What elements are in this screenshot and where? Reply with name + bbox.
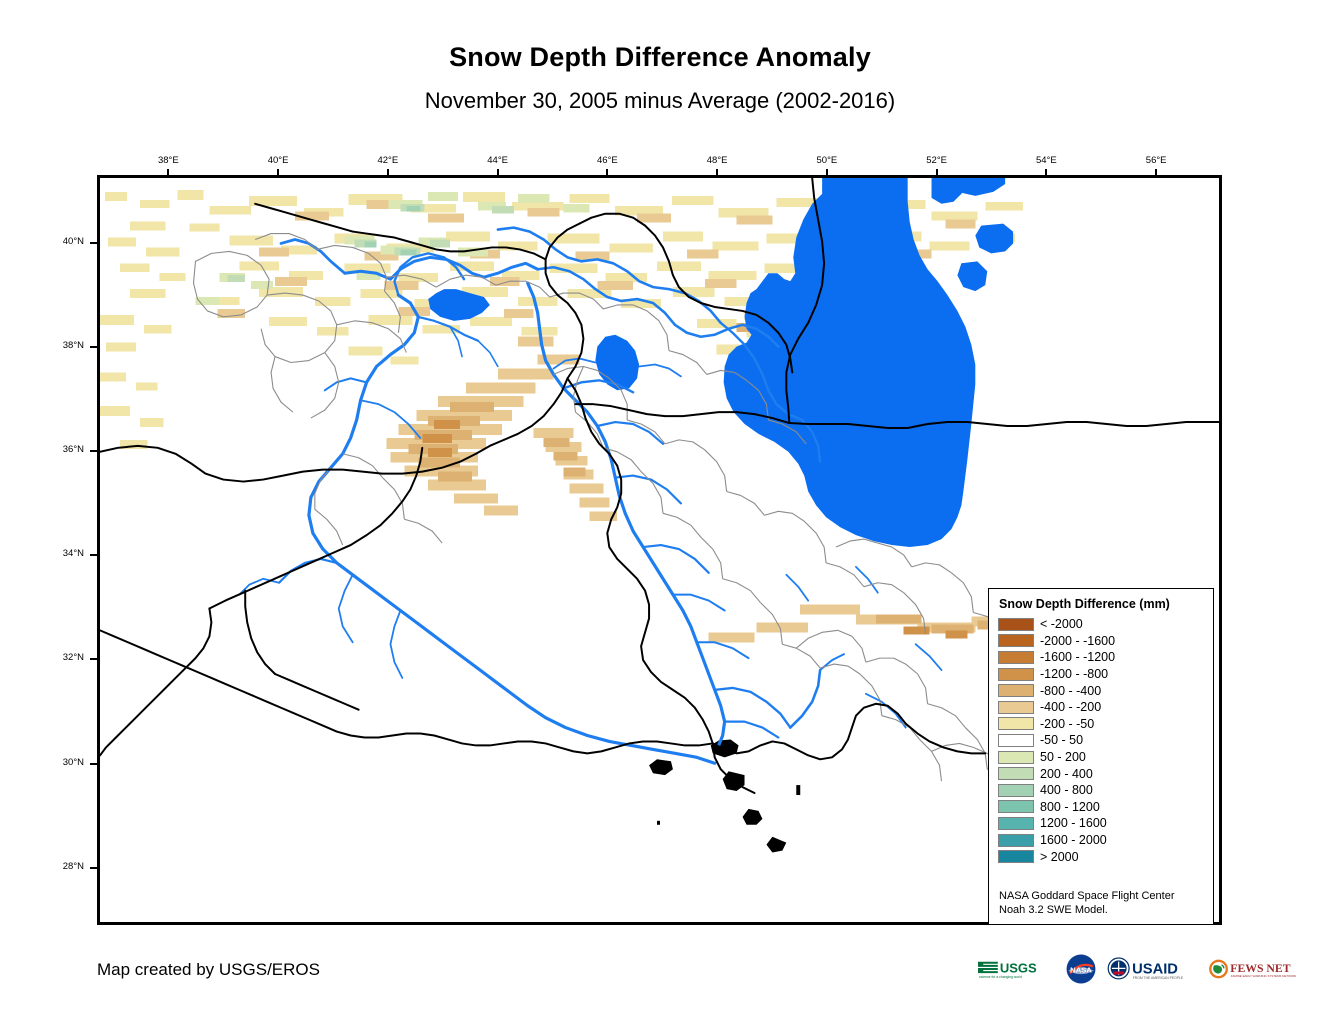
legend-swatch [998,834,1034,847]
lat-tick-mark [90,554,97,556]
legend-row[interactable]: -400 - -200 [998,699,1213,716]
lat-tick-label: 30°N [40,757,84,768]
fewsnet-logo[interactable]: FEWS NET FAMINE EARLY WARNING SYSTEMS NE… [1208,952,1296,986]
lat-tick-label: 32°N [40,652,84,663]
legend-label: 50 - 200 [1040,750,1086,764]
legend-swatch [998,651,1034,664]
lon-tick-label: 52°E [917,155,957,166]
legend-label: -1600 - -1200 [1040,650,1115,664]
lat-tick-mark [90,867,97,869]
lon-tick-label: 42°E [368,155,408,166]
page-title: Snow Depth Difference Anomaly [0,42,1320,73]
legend-label: 800 - 1200 [1040,800,1100,814]
legend-rows: < -2000-2000 - -1600-1600 - -1200-1200 -… [998,616,1213,865]
legend-swatch [998,850,1034,863]
legend-swatch [998,784,1034,797]
legend-row[interactable]: -1200 - -800 [998,666,1213,683]
legend-label: -1200 - -800 [1040,667,1108,681]
legend-label: 1600 - 2000 [1040,833,1107,847]
lat-tick-mark [90,450,97,452]
legend-row[interactable]: -800 - -400 [998,682,1213,699]
legend-row[interactable]: < -2000 [998,616,1213,633]
lat-tick-mark [90,242,97,244]
legend-panel[interactable]: Snow Depth Difference (mm) < -2000-2000 … [988,588,1214,925]
usaid-logo[interactable]: USAID FROM THE AMERICAN PEOPLE [1107,952,1199,986]
legend-swatch [998,668,1034,681]
svg-text:USGS: USGS [1000,961,1037,976]
legend-swatch [998,817,1034,830]
lat-tick-mark [90,763,97,765]
lat-tick-mark [90,658,97,660]
legend-label: -200 - -50 [1040,717,1094,731]
page-subtitle: November 30, 2005 minus Average (2002-20… [0,88,1320,114]
legend-label: -2000 - -1600 [1040,634,1115,648]
legend-swatch [998,618,1034,631]
lon-tick-label: 56°E [1136,155,1176,166]
legend-row[interactable]: > 2000 [998,848,1213,865]
svg-text:FAMINE EARLY WARNING SYSTEMS N: FAMINE EARLY WARNING SYSTEMS NETWORK [1231,974,1296,978]
legend-swatch [998,701,1034,714]
lat-tick-label: 38°N [40,340,84,351]
legend-swatch [998,734,1034,747]
legend-label: 200 - 400 [1040,767,1093,781]
legend-swatch [998,717,1034,730]
lat-tick-label: 28°N [40,861,84,872]
legend-row[interactable]: 50 - 200 [998,749,1213,766]
svg-text:USAID: USAID [1132,961,1178,977]
lat-tick-label: 36°N [40,444,84,455]
legend-row[interactable]: -50 - 50 [998,732,1213,749]
legend-swatch [998,767,1034,780]
legend-row[interactable]: 1200 - 1600 [998,815,1213,832]
lon-tick-label: 50°E [807,155,847,166]
legend-row[interactable]: 800 - 1200 [998,799,1213,816]
legend-label: -400 - -200 [1040,700,1101,714]
usgs-logo[interactable]: USGS science for a changing world [977,952,1055,986]
legend-label: -800 - -400 [1040,684,1101,698]
lon-tick-label: 38°E [148,155,188,166]
legend-label: 1200 - 1600 [1040,816,1107,830]
legend-label: < -2000 [1040,617,1083,631]
lon-tick-label: 40°E [258,155,298,166]
lon-tick-label: 54°E [1026,155,1066,166]
legend-row[interactable]: 1600 - 2000 [998,832,1213,849]
legend-swatch [998,751,1034,764]
legend-note-line2: Noah 3.2 SWE Model. [999,904,1174,918]
svg-text:FROM THE AMERICAN PEOPLE: FROM THE AMERICAN PEOPLE [1133,976,1184,980]
legend-row[interactable]: -2000 - -1600 [998,633,1213,650]
legend-swatch [998,800,1034,813]
lat-tick-label: 34°N [40,548,84,559]
legend-title: Snow Depth Difference (mm) [999,597,1213,611]
lat-tick-mark [90,346,97,348]
lon-tick-label: 46°E [587,155,627,166]
lon-tick-label: 44°E [478,155,518,166]
legend-row[interactable]: -1600 - -1200 [998,649,1213,666]
svg-text:science for a changing world: science for a changing world [979,975,1022,979]
legend-row[interactable]: -200 - -50 [998,716,1213,733]
legend-row[interactable]: 200 - 400 [998,765,1213,782]
lon-tick-label: 48°E [697,155,737,166]
legend-label: -50 - 50 [1040,733,1083,747]
svg-text:FEWS NET: FEWS NET [1230,962,1290,975]
map-credit: Map created by USGS/EROS [97,960,320,980]
legend-label: > 2000 [1040,850,1079,864]
agency-logos: USGS science for a changing world NASA U… [977,952,1296,986]
legend-source-note: NASA Goddard Space Flight Center Noah 3.… [999,890,1174,917]
nasa-logo[interactable]: NASA [1064,952,1098,986]
legend-label: 400 - 800 [1040,783,1093,797]
legend-note-line1: NASA Goddard Space Flight Center [999,890,1174,904]
legend-swatch [998,684,1034,697]
legend-swatch [998,634,1034,647]
lat-tick-label: 40°N [40,236,84,247]
svg-text:NASA: NASA [1070,965,1092,974]
legend-row[interactable]: 400 - 800 [998,782,1213,799]
